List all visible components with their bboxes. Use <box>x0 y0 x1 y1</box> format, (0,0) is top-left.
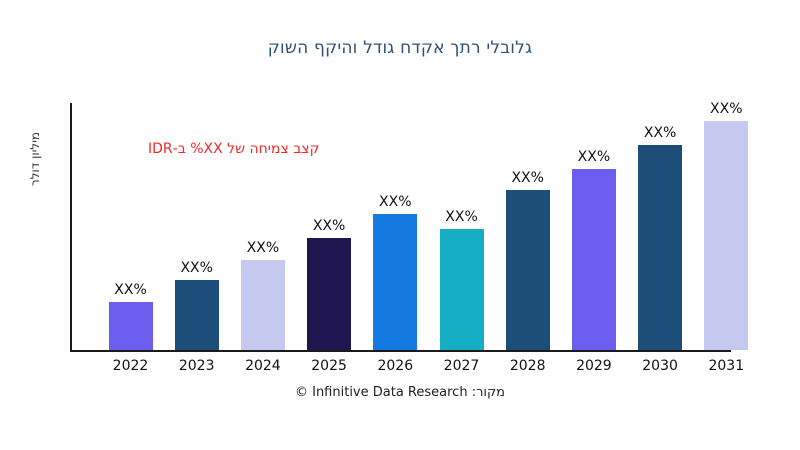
bar-2027[interactable]: XX% <box>440 229 484 350</box>
bar-value-label-2031: XX% <box>710 101 742 117</box>
bar-value-label-2030: XX% <box>644 125 676 141</box>
bar-rect-2022 <box>109 302 153 350</box>
bar-2025[interactable]: XX% <box>307 238 351 350</box>
bar-value-label-2027: XX% <box>445 209 477 225</box>
bar-2022[interactable]: XX% <box>109 302 153 350</box>
bar-2024[interactable]: XX% <box>241 260 285 350</box>
x-tick-2027: 2027 <box>432 358 492 374</box>
x-tick-2031: 2031 <box>696 358 756 374</box>
bar-rect-2024 <box>241 260 285 350</box>
bar-rect-2025 <box>307 238 351 350</box>
x-tick-2022: 2022 <box>101 358 161 374</box>
chart-container: גלובלי רתך אקדח גודל והיקף השוק מיליון ד… <box>0 0 800 450</box>
source-caption: מקור: Infinitive Data Research © <box>0 385 800 400</box>
bar-value-label-2029: XX% <box>578 149 610 165</box>
bar-rect-2031 <box>704 121 748 350</box>
bar-2028[interactable]: XX% <box>506 190 550 350</box>
bar-rect-2026 <box>373 214 417 350</box>
bar-rect-2023 <box>175 280 219 350</box>
bar-value-label-2022: XX% <box>114 282 146 298</box>
bar-rect-2030 <box>638 145 682 350</box>
bar-value-label-2026: XX% <box>379 194 411 210</box>
bar-2031[interactable]: XX% <box>704 121 748 350</box>
bar-value-label-2024: XX% <box>247 240 279 256</box>
bar-value-label-2028: XX% <box>511 170 543 186</box>
bar-rect-2028 <box>506 190 550 350</box>
bar-value-label-2023: XX% <box>180 260 212 276</box>
x-tick-2029: 2029 <box>564 358 624 374</box>
x-tick-2023: 2023 <box>167 358 227 374</box>
bar-2026[interactable]: XX% <box>373 214 417 350</box>
plot-area: XX%2022XX%2023XX%2024XX%2025XX%2026XX%20… <box>0 0 800 450</box>
x-tick-2028: 2028 <box>498 358 558 374</box>
x-tick-2024: 2024 <box>233 358 293 374</box>
bar-rect-2027 <box>440 229 484 350</box>
x-tick-2030: 2030 <box>630 358 690 374</box>
bar-2023[interactable]: XX% <box>175 280 219 350</box>
bar-rect-2029 <box>572 169 616 350</box>
x-tick-2026: 2026 <box>365 358 425 374</box>
x-tick-2025: 2025 <box>299 358 359 374</box>
bar-value-label-2025: XX% <box>313 218 345 234</box>
bar-2029[interactable]: XX% <box>572 169 616 350</box>
bar-2030[interactable]: XX% <box>638 145 682 350</box>
